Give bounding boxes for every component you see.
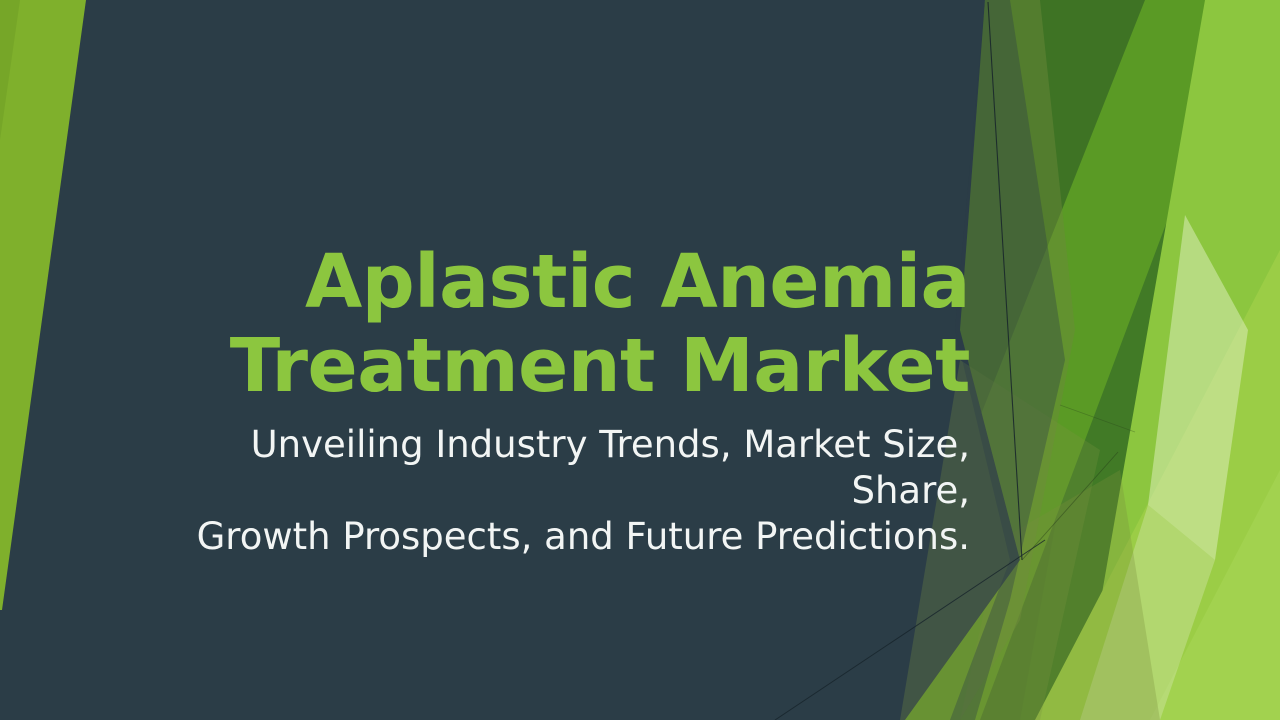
title-slide: Aplastic Anemia Treatment Market Unveili… (0, 0, 1280, 720)
page-title: Aplastic Anemia Treatment Market (150, 240, 970, 408)
slide-subtitle: Unveiling Industry Trends, Market Size, … (150, 422, 970, 560)
slide-text-block: Aplastic Anemia Treatment Market Unveili… (150, 240, 970, 560)
